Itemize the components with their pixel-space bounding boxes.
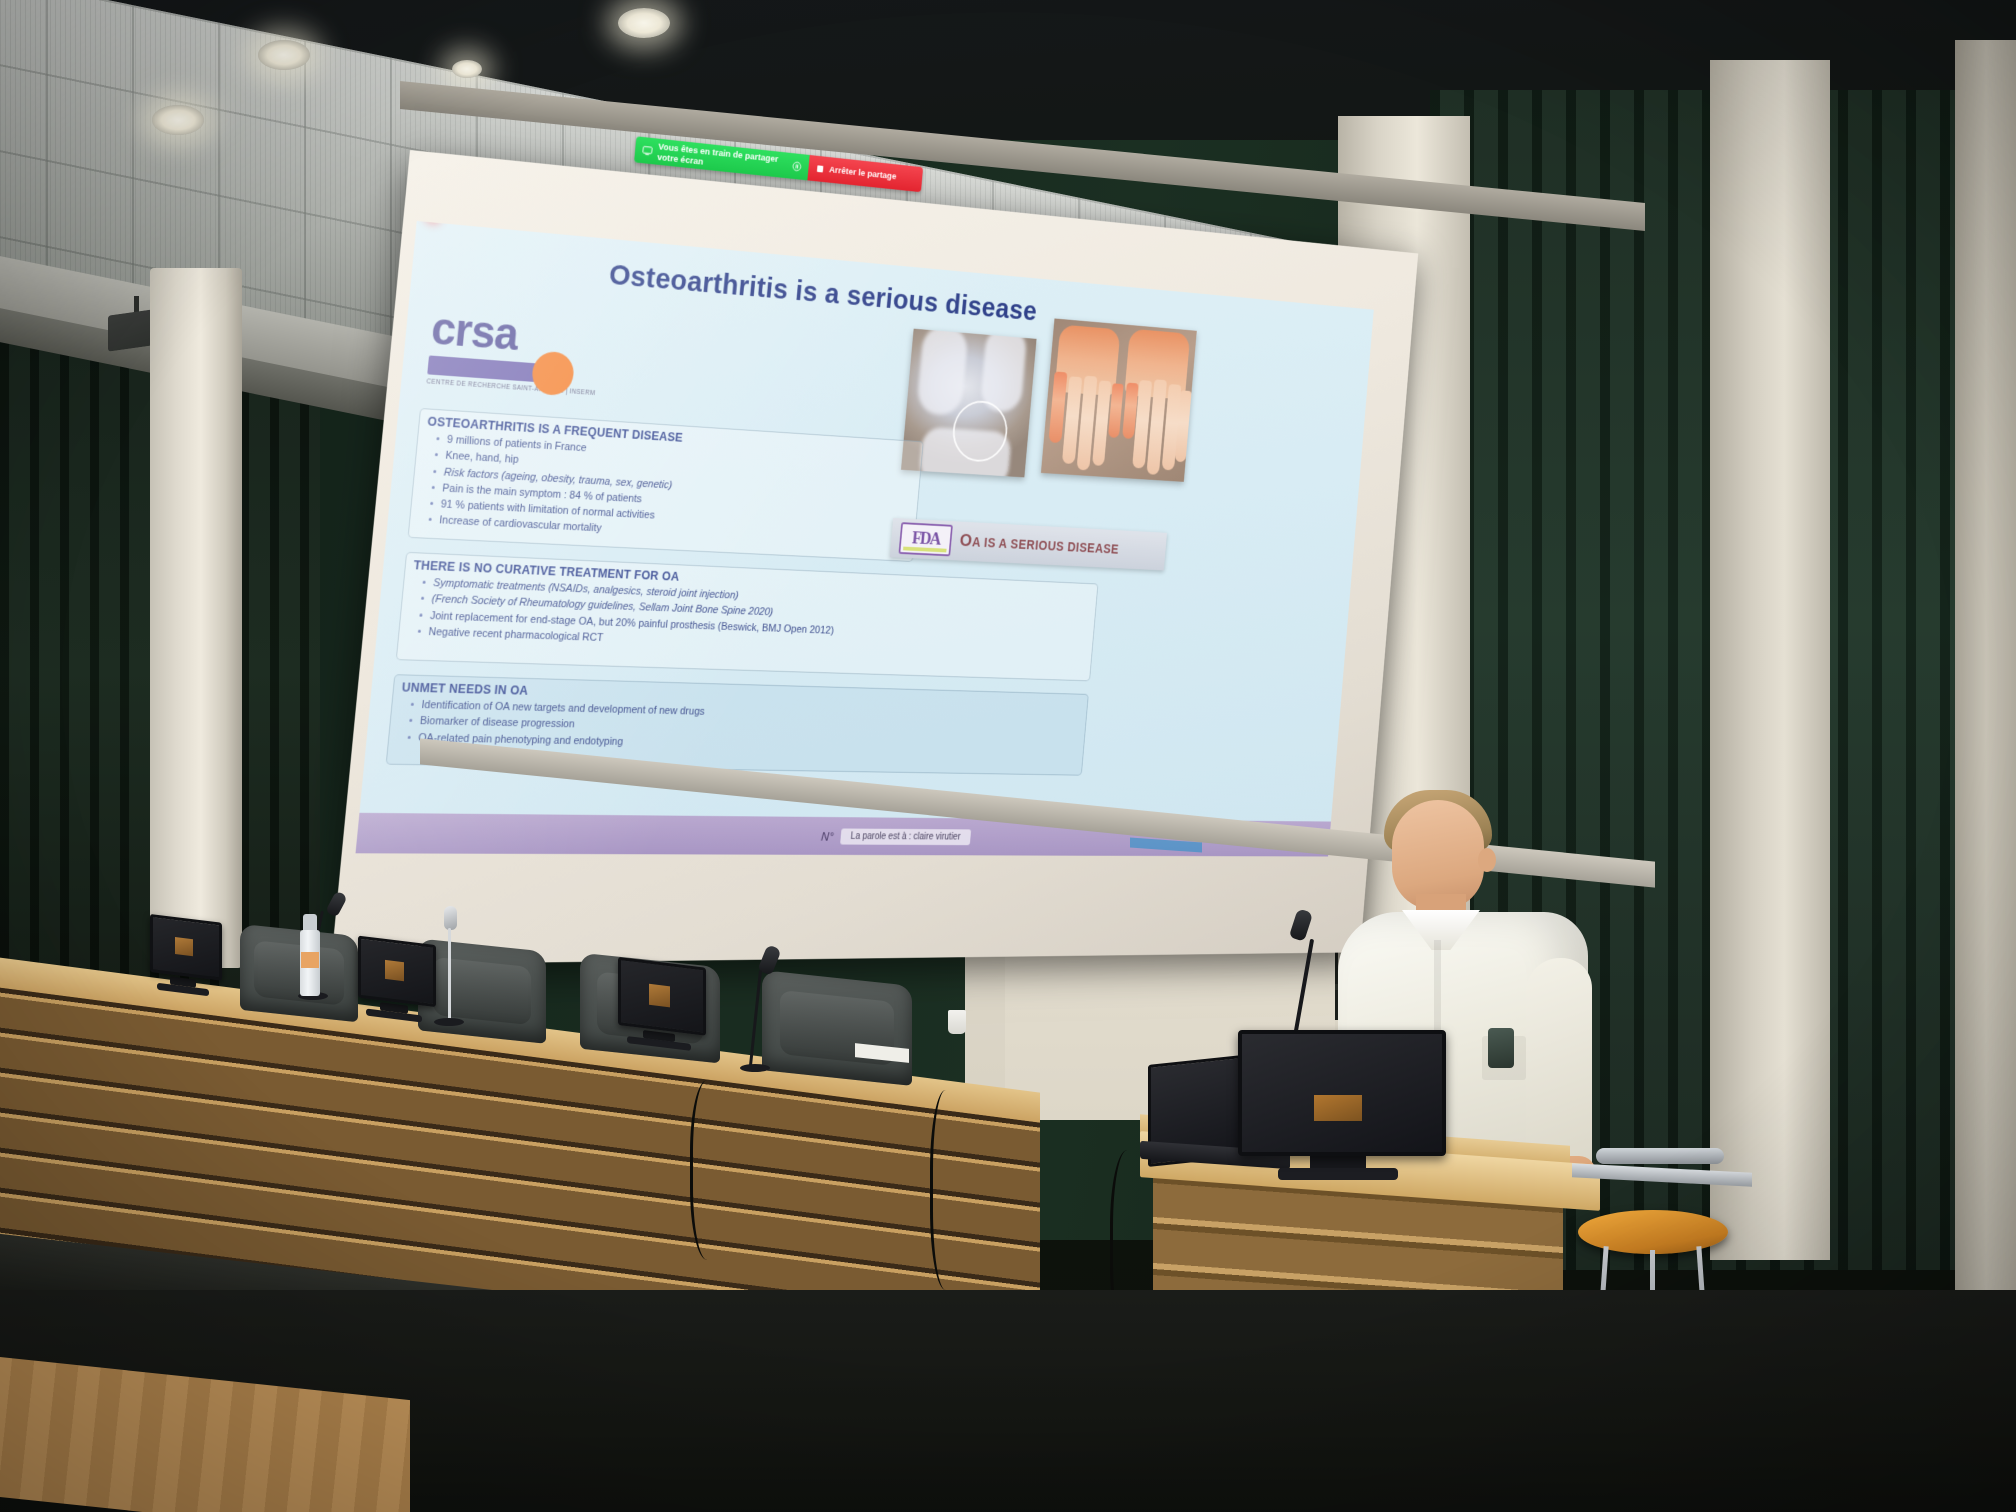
downlight-1: [258, 40, 310, 70]
screen-share-icon: [642, 145, 653, 157]
stop-sharing-button[interactable]: Arrêter le partage: [807, 155, 923, 192]
panel-chair-4[interactable]: [762, 970, 912, 1086]
panel-chair-1[interactable]: [240, 924, 358, 1022]
fda-statement-rest: IS A SERIOUS DISEASE: [980, 535, 1120, 557]
podium-monitor[interactable]: [1238, 1030, 1438, 1170]
hand-sanitizer-label: [301, 952, 319, 968]
stop-square-icon: [815, 163, 825, 174]
crsa-logo-subtitle: CENTRE DE RECHERCHE SAINT-ANTOINE | INSE…: [426, 378, 600, 397]
podium-monitor-stand: [1310, 1156, 1366, 1168]
stool-backrest: [1596, 1148, 1724, 1164]
presenter-ear: [1478, 848, 1496, 872]
pillar-left: [150, 268, 242, 968]
fda-statement-text: OA IS A SERIOUS DISEASE: [959, 531, 1120, 559]
downlight-3: [618, 8, 670, 38]
pause-icon[interactable]: [792, 161, 802, 172]
downlight-4: [452, 60, 482, 78]
smartphone-in-pocket: [1488, 1028, 1514, 1068]
panel-mic-2-head: [444, 906, 457, 930]
fda-statement-banner: FDA OA IS A SERIOUS DISEASE: [890, 518, 1167, 570]
section-no-curative-treatment: THERE IS NO CURATIVE TREATMENT FOR OA Sy…: [396, 552, 1099, 681]
paper-cup[interactable]: [948, 1010, 966, 1034]
fda-logo-text: FDA: [911, 528, 940, 550]
slide-title: Osteoarthritis is a serious disease: [533, 252, 1102, 333]
downlight-2: [152, 105, 204, 135]
panel-monitor-1-screen[interactable]: [150, 914, 222, 981]
panel-monitor-3-screen[interactable]: [618, 957, 706, 1036]
podium-monitor-base: [1278, 1168, 1398, 1180]
slide-page-marker: N°: [821, 829, 835, 843]
panel-monitor-1[interactable]: [150, 914, 216, 997]
current-speaker-chip: La parole est à : claire virutier: [840, 828, 971, 845]
crsa-logo-wordmark: crsa: [430, 307, 608, 363]
auditorium-scene: Vous êtes en train de partager votre écr…: [0, 0, 2016, 1512]
panel-mic-2-stem: [448, 928, 451, 1020]
panel-chair-2[interactable]: [418, 938, 546, 1043]
pillar-far-right: [1955, 40, 2016, 1290]
panel-monitor-2[interactable]: [358, 936, 430, 1024]
section-frequent-disease: OSTEOARTHRITIS IS A FREQUENT DISEASE 9 m…: [408, 408, 924, 562]
panel-monitor-2-screen[interactable]: [358, 936, 436, 1008]
cable-2: [930, 1090, 969, 1290]
fda-logo-icon: FDA: [898, 522, 952, 556]
panel-mic-3-base: [740, 1064, 770, 1072]
pillar-right: [1710, 60, 1830, 1260]
hands-illustration-image: [1041, 318, 1197, 481]
crsa-logo: crsa CENTRE DE RECHERCHE SAINT-ANTOINE |…: [425, 307, 608, 414]
cable-1: [690, 1080, 733, 1260]
panel-monitor-3[interactable]: [618, 957, 700, 1052]
stop-sharing-label: Arrêter le partage: [829, 165, 897, 182]
stool-seat[interactable]: [1578, 1210, 1728, 1254]
panel-mic-2-base: [434, 1018, 464, 1026]
podium-monitor-screen[interactable]: [1238, 1030, 1446, 1156]
